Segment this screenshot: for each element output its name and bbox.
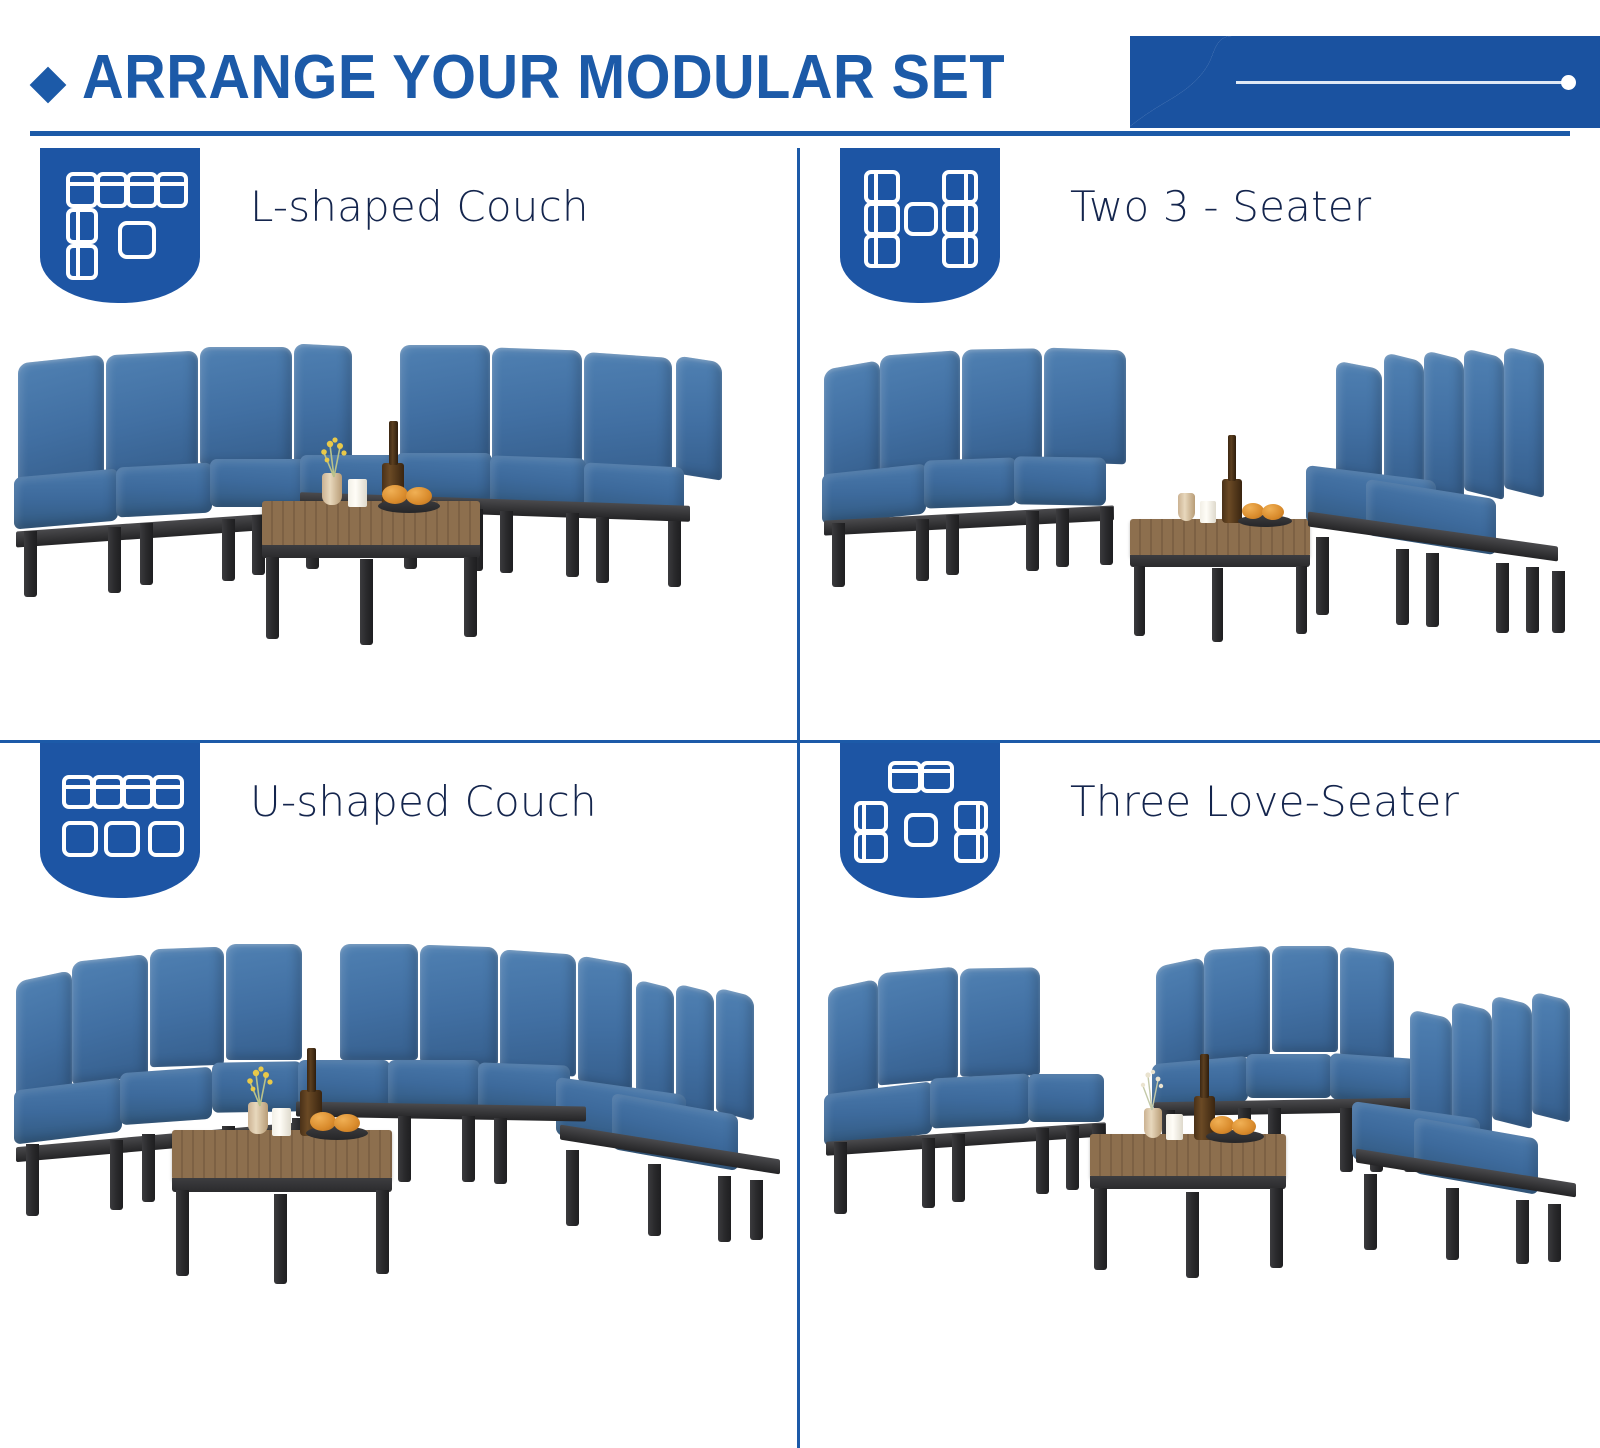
- quadrant-label: L-shaped Couch: [250, 182, 770, 231]
- croissant: [334, 1114, 360, 1132]
- wine-bottle: [1222, 479, 1242, 523]
- table-leg: [376, 1190, 389, 1274]
- wine-bottle-neck: [389, 421, 398, 465]
- candle: [1200, 501, 1216, 523]
- wine-bottle-neck: [307, 1048, 316, 1092]
- candle: [272, 1108, 291, 1136]
- croissant: [1262, 504, 1284, 520]
- arm-cushion: [676, 355, 722, 480]
- back-cushion: [1452, 1001, 1492, 1135]
- badge-u-shape-layout-icon: [40, 743, 200, 898]
- table-leg: [1270, 1188, 1283, 1268]
- back-cushion: [1492, 995, 1532, 1129]
- seat-cushion: [930, 1073, 1030, 1128]
- sofa-leg: [1548, 1204, 1561, 1262]
- back-cushion: [962, 348, 1042, 463]
- sofa-leg: [566, 1150, 579, 1226]
- scene-l-shaped-couch: [0, 323, 798, 743]
- coffee-table-edge: [172, 1178, 392, 1192]
- arm-cushion: [1156, 957, 1204, 1077]
- seat-cushion: [116, 462, 212, 517]
- table-leg: [266, 557, 279, 639]
- banner-dot-icon: [1561, 75, 1576, 90]
- table-leg: [1296, 566, 1307, 634]
- flowers-icon: [310, 431, 358, 479]
- table-leg: [464, 557, 477, 637]
- croissant: [382, 485, 408, 504]
- back-cushion: [1044, 348, 1126, 465]
- sofa-leg: [26, 1144, 39, 1216]
- back-cushion: [492, 347, 582, 470]
- candle: [1166, 1114, 1183, 1140]
- quadrant-three-love-seater: Three Love-Seater: [800, 743, 1598, 1338]
- sofa-leg: [1056, 509, 1069, 567]
- back-cushion: [72, 954, 148, 1084]
- seat-cushion: [14, 468, 118, 529]
- seat-cushion: [1014, 456, 1106, 506]
- seat-cushion: [120, 1067, 212, 1125]
- back-cushion: [1532, 991, 1570, 1122]
- sofa-leg: [668, 521, 681, 587]
- candle: [348, 479, 367, 507]
- table-leg: [274, 1194, 287, 1284]
- seat-cushion: [1246, 1054, 1332, 1098]
- coffee-table-edge: [262, 545, 480, 558]
- back-cushion: [1424, 350, 1464, 500]
- flowers-icon: [236, 1060, 284, 1108]
- sofa-leg: [1066, 1126, 1079, 1190]
- sofa-leg: [1426, 553, 1439, 627]
- back-cushion: [106, 351, 198, 478]
- coffee-table-edge: [1130, 555, 1310, 567]
- flowers-icon: [1130, 1064, 1176, 1112]
- sofa-leg: [24, 531, 37, 597]
- scene-two-3-seater: [800, 323, 1598, 743]
- badge-l-shape-layout-icon: [40, 148, 200, 303]
- quadrant-l-shaped-couch: L-shaped Couch: [0, 148, 798, 743]
- arm-cushion: [1336, 361, 1382, 482]
- infographic-page: ARRANGE YOUR MODULAR SET: [0, 0, 1600, 1448]
- table-leg: [1094, 1188, 1107, 1270]
- header-banner: [1130, 36, 1600, 128]
- sofa-leg: [1364, 1174, 1377, 1250]
- vase: [1144, 1108, 1162, 1138]
- croissant: [406, 487, 432, 505]
- arm-cushion: [828, 979, 878, 1106]
- table-leg: [176, 1190, 189, 1276]
- sofa-leg: [922, 1138, 935, 1208]
- coffee-table-top: [262, 501, 480, 547]
- sofa-leg: [946, 515, 959, 575]
- sofa-leg: [596, 517, 609, 583]
- sofa-leg: [1496, 563, 1509, 633]
- sofa-leg: [952, 1134, 965, 1202]
- sofa-leg: [500, 511, 513, 573]
- sofa-leg: [648, 1164, 661, 1236]
- back-cushion: [150, 947, 224, 1068]
- seat-cushion: [924, 457, 1016, 508]
- croissant: [1242, 503, 1264, 519]
- sofa-leg: [142, 1134, 155, 1202]
- sofa-leg: [108, 527, 121, 593]
- croissant: [310, 1112, 336, 1131]
- sofa-leg: [1316, 537, 1329, 615]
- diamond-icon: [30, 67, 67, 104]
- back-cushion: [340, 944, 418, 1060]
- vase: [1178, 493, 1195, 521]
- sofa-leg: [1036, 1128, 1049, 1194]
- table-leg: [360, 559, 373, 645]
- seat-cushion: [388, 1060, 480, 1108]
- croissant: [1210, 1116, 1234, 1134]
- banner-curve-shape: [1130, 36, 1248, 128]
- wine-bottle-neck: [1228, 435, 1236, 481]
- croissant: [1232, 1118, 1256, 1135]
- back-cushion: [420, 945, 498, 1066]
- quadrant-label: Two 3 - Seater: [1070, 182, 1590, 231]
- seat-cushion: [210, 459, 306, 507]
- sofa-leg: [718, 1176, 731, 1242]
- coffee-table-edge: [1090, 1176, 1286, 1189]
- header-underline: [30, 131, 1570, 136]
- table-leg: [1212, 568, 1223, 642]
- badge-two-columns-layout-icon: [840, 148, 1000, 303]
- sofa-leg: [832, 523, 845, 587]
- header: ARRANGE YOUR MODULAR SET: [0, 0, 1600, 148]
- back-cushion: [716, 987, 754, 1120]
- back-cushion: [960, 967, 1040, 1076]
- sofa-leg: [222, 519, 235, 581]
- corner-back-cushion: [578, 955, 632, 1091]
- sofa-leg: [1552, 571, 1565, 633]
- seat-cushion: [1028, 1074, 1104, 1122]
- sofa-leg: [494, 1118, 507, 1184]
- sofa-leg: [834, 1142, 847, 1214]
- sofa-leg: [1446, 1188, 1459, 1260]
- back-cushion: [1464, 348, 1504, 500]
- scene-three-love-seater: [800, 918, 1598, 1338]
- quadrant-two-3-seater: Two 3 - Seater: [800, 148, 1598, 743]
- sofa-leg: [1516, 1200, 1529, 1264]
- sofa-leg: [566, 513, 579, 577]
- sofa-leg: [1396, 549, 1409, 625]
- sofa-leg: [398, 1116, 411, 1182]
- banner-rule: [1236, 81, 1566, 84]
- sofa-leg: [110, 1140, 123, 1210]
- back-cushion: [1504, 346, 1544, 498]
- back-cushion: [1204, 946, 1270, 1061]
- back-cushion: [400, 345, 490, 463]
- back-cushion: [226, 944, 302, 1060]
- quadrant-u-shaped-couch: U-shaped Couch: [0, 743, 798, 1338]
- scene-u-shaped-couch: [0, 918, 798, 1338]
- quadrant-label: Three Love-Seater: [1070, 777, 1590, 826]
- sofa-leg: [916, 519, 929, 581]
- back-cushion: [878, 967, 958, 1086]
- sofa-leg: [1100, 507, 1113, 565]
- sofa-leg: [750, 1180, 763, 1240]
- back-cushion: [1272, 946, 1338, 1052]
- back-cushion: [500, 949, 576, 1076]
- sofa-leg: [1526, 567, 1539, 633]
- arm-cushion: [1340, 946, 1394, 1064]
- wine-bottle-neck: [1200, 1054, 1209, 1098]
- page-title: ARRANGE YOUR MODULAR SET: [82, 42, 1005, 113]
- sofa-leg: [1026, 511, 1039, 571]
- badge-three-loveseat-layout-icon: [840, 743, 1000, 898]
- back-cushion: [880, 350, 960, 474]
- table-leg: [1186, 1192, 1199, 1278]
- table-leg: [1134, 566, 1145, 636]
- sofa-leg: [140, 523, 153, 585]
- back-cushion: [200, 347, 292, 465]
- sofa-leg: [462, 1116, 475, 1182]
- quadrant-grid: L-shaped Couch: [0, 148, 1600, 1448]
- quadrant-label: U-shaped Couch: [250, 777, 770, 826]
